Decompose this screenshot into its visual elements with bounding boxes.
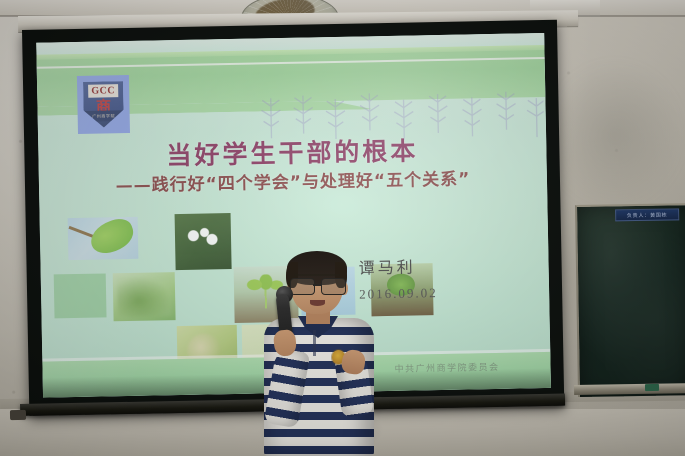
slide-organization: 中共广州商学院委员会 (394, 360, 499, 375)
blackboard-duty-sign: 负责人：黄国栋 (615, 208, 679, 221)
wall-smudge (545, 60, 685, 210)
screen-bar-end-cap (10, 410, 26, 420)
crest-letters: GCC (88, 84, 118, 98)
classroom-photo: 负责人：黄国栋 (0, 0, 685, 456)
presenter-mouth (310, 300, 325, 306)
blackboard-eraser (645, 384, 659, 391)
photo-tile-blurred-bush (113, 272, 176, 321)
eyeglass-bridge (313, 284, 321, 286)
crest-shield: GCC 商 广州商学院 (83, 81, 124, 128)
chalk-tray (574, 383, 685, 395)
crest-ribbon: 广州商学院 (80, 110, 128, 122)
blackboard: 负责人：黄国栋 (575, 203, 685, 397)
eyeglass-lens-left (290, 278, 315, 295)
gcc-logo: GCC 商 广州商学院 (77, 75, 130, 134)
photo-tile-leaf-on-branch (68, 217, 139, 260)
eyeglass-lens-right (321, 278, 346, 295)
photo-tile-green-block (54, 273, 107, 318)
presenter-placket (313, 330, 316, 356)
eyeglasses-icon (289, 278, 345, 293)
chalk-dust (577, 205, 685, 397)
presenter-brow (294, 274, 340, 276)
presenter-person (258, 254, 384, 456)
photo-tile-white-flowers (175, 213, 232, 270)
